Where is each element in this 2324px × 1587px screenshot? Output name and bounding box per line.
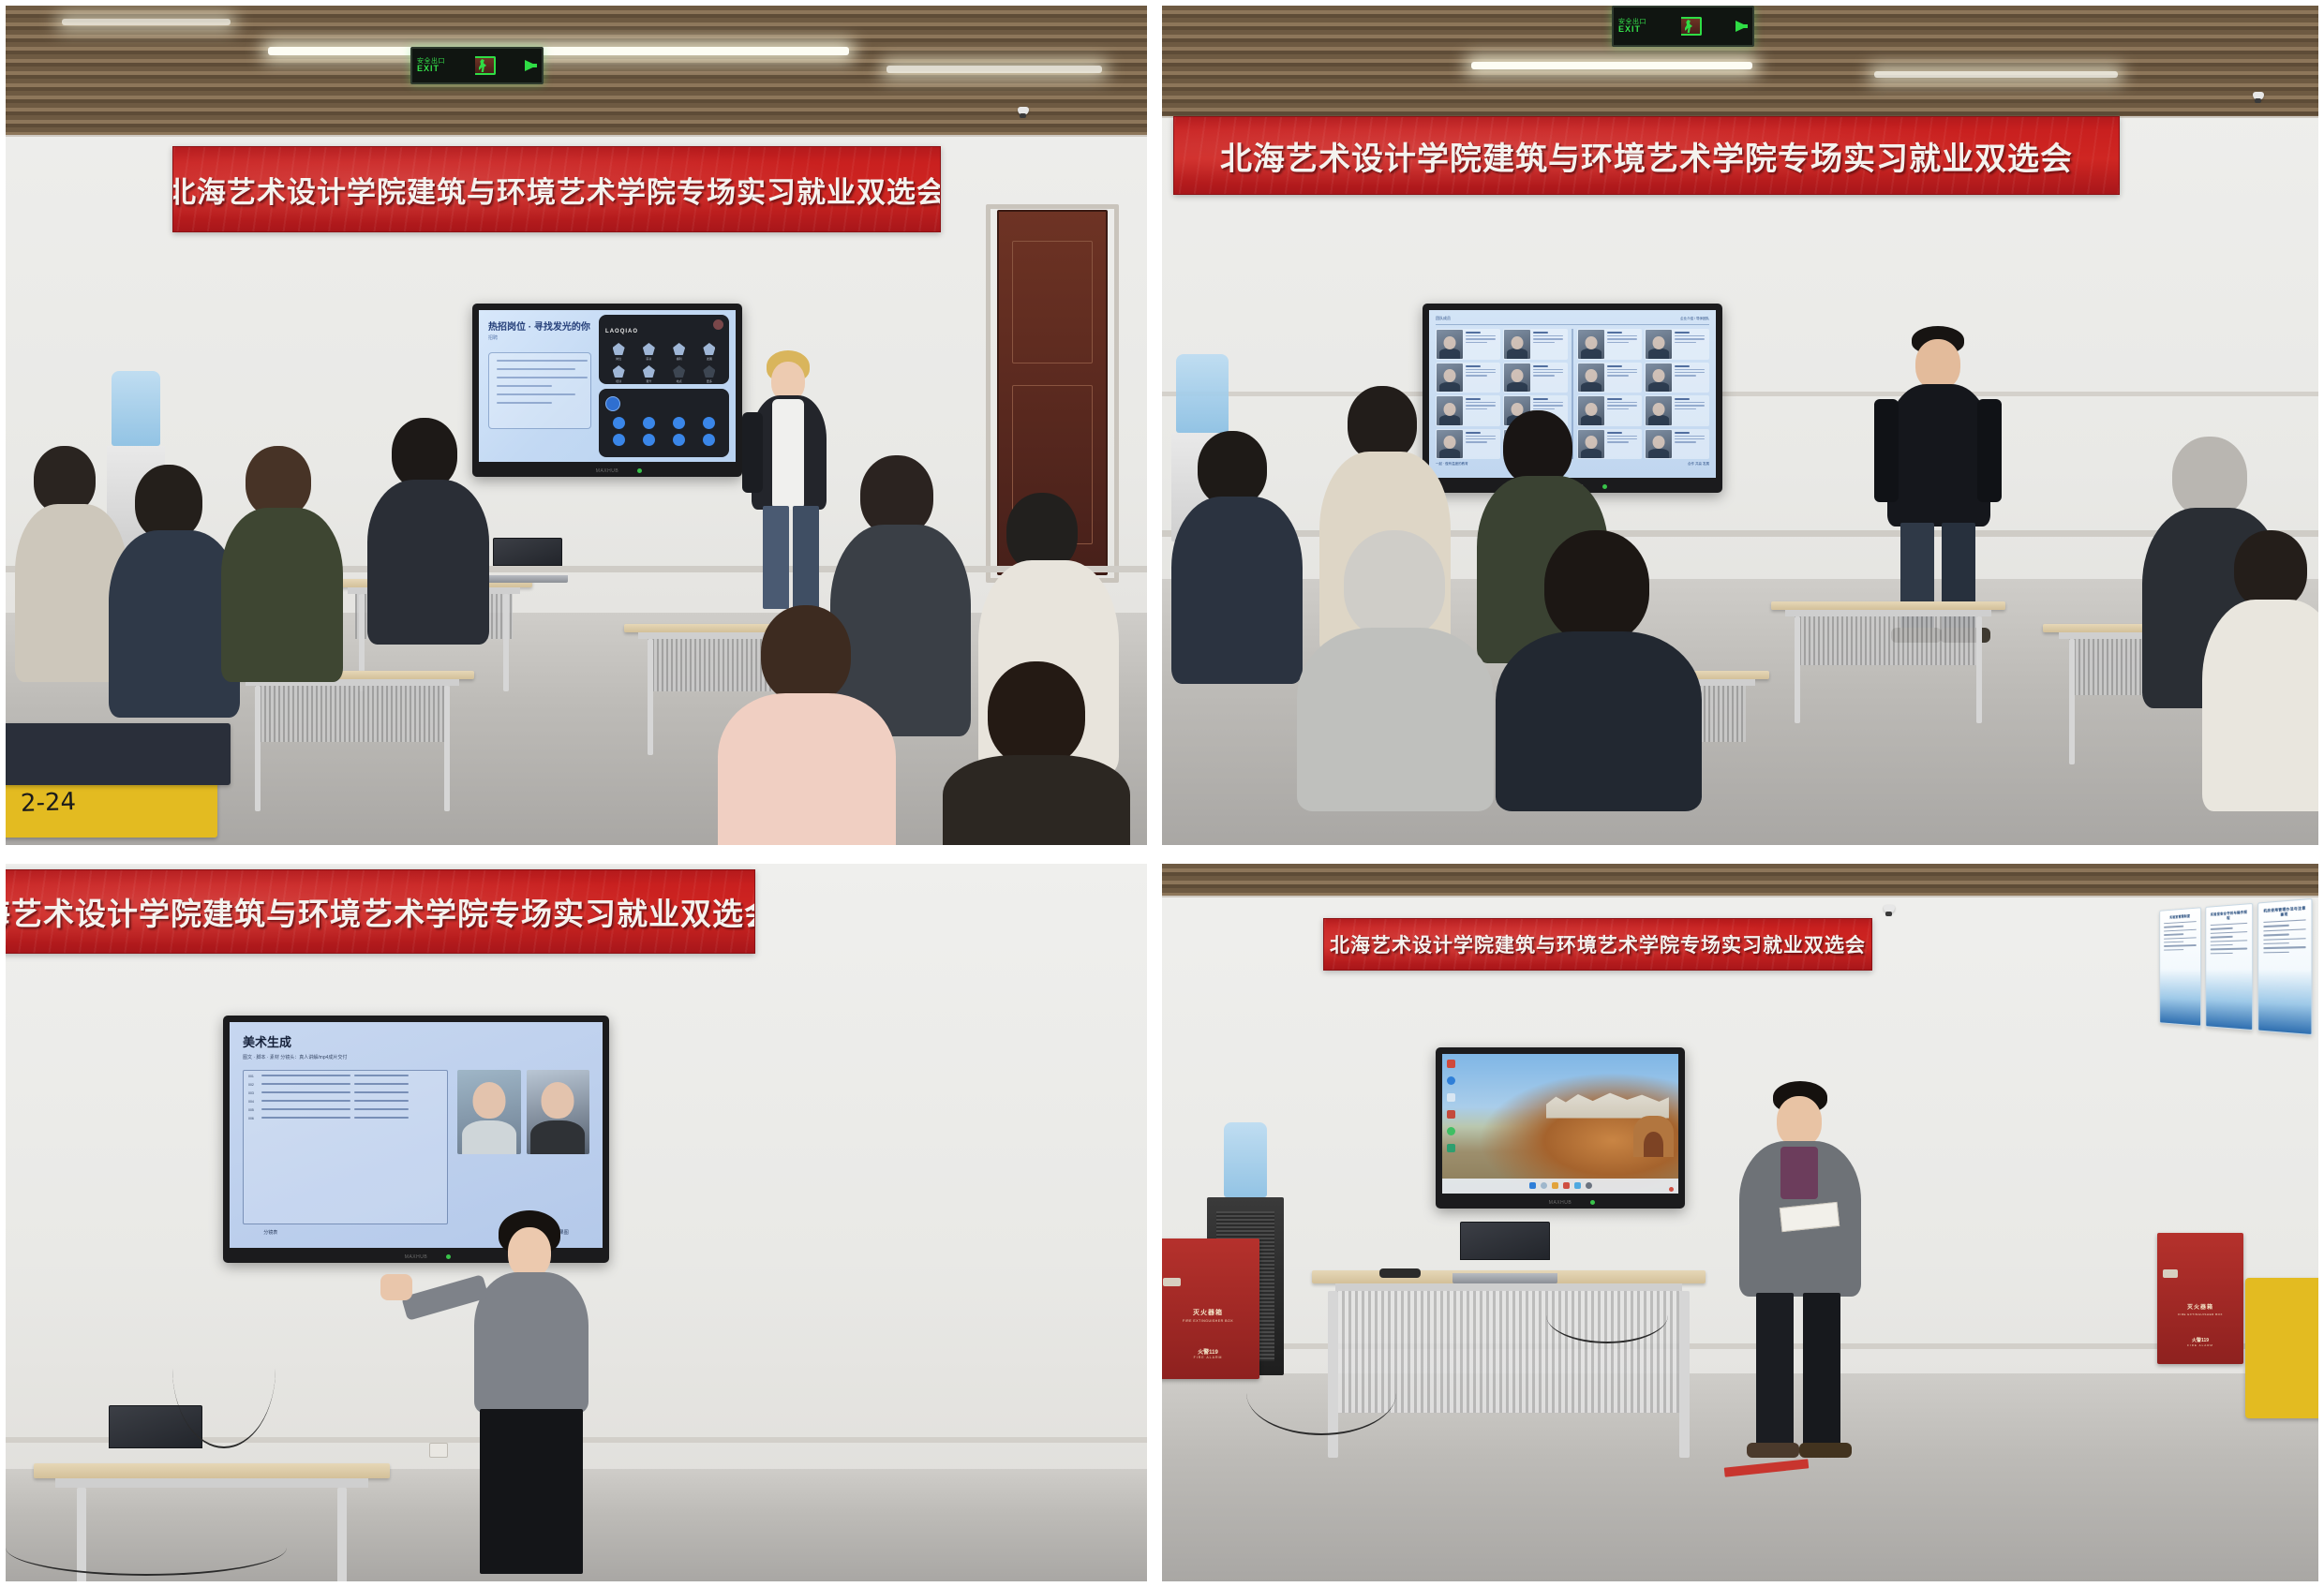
- fire-alarm-number: 火警119: [2157, 1337, 2243, 1343]
- portrait-card: [1436, 329, 1500, 360]
- photo-bottom-right: 北海艺术设计学院建筑与环境艺术学院专场实习就业双选会 实验室管理制度 实验室安全…: [1162, 864, 2318, 1581]
- slide-content: 热招岗位 · 寻找发光的你 招聘 LAOQIAO: [479, 310, 736, 462]
- app-icon: [703, 417, 715, 429]
- photo-collage: 安全出口 EXIT 北海艺术设计学院建筑与环境艺术学院专场实习就业双选会: [0, 0, 2324, 1587]
- portrait-card: [1577, 329, 1642, 360]
- panel-brand: LAOQIAO: [605, 329, 638, 334]
- icon-label: 更多: [707, 379, 712, 383]
- table-caption: 分镜表: [263, 1229, 277, 1236]
- app-icon: [643, 417, 655, 429]
- welfare-icon: [673, 343, 685, 355]
- portrait-card: [1577, 363, 1642, 393]
- classroom-chair[interactable]: 2-24: [6, 779, 217, 838]
- icon-label: 培训: [616, 379, 621, 383]
- job-icon: [613, 343, 625, 355]
- display-screen: MAXHUB: [1436, 1047, 1685, 1209]
- fire-box-subtitle: FIRE EXTINGUISHER BOX: [2157, 1313, 2243, 1316]
- audience-member: [943, 661, 1130, 845]
- fire-alarm-label: FIRE ALARM: [1162, 1356, 1259, 1359]
- leg: [1803, 1293, 1840, 1450]
- system-tray[interactable]: [1669, 1187, 1674, 1192]
- fire-alarm-label: FIRE ALARM: [2157, 1343, 2243, 1347]
- audience-member: [221, 446, 343, 680]
- explorer-icon[interactable]: [1552, 1182, 1558, 1189]
- wallpaper-bridge: [1633, 1116, 1674, 1158]
- hdmi-cable: [172, 1289, 276, 1448]
- arm: [1977, 399, 2002, 502]
- plaque-title: 实验室安全守则与操作规程: [2211, 911, 2247, 923]
- plaque-title: 机房使用管理办法与注意事项: [2263, 906, 2305, 919]
- settings-icon[interactable]: [1586, 1182, 1592, 1189]
- row-id: 005: [248, 1108, 258, 1112]
- icon-label: 福利: [677, 357, 682, 361]
- wall-outlet[interactable]: [429, 1443, 448, 1458]
- box-handle: [1163, 1278, 1182, 1286]
- event-banner-text: 北海艺术设计学院建筑与环境艺术学院专场实习就业双选会: [172, 169, 941, 211]
- fire-equipment-box: 灭火器箱 FIRE EXTINGUISHER BOX 火警119 FIRE AL…: [1162, 1238, 1259, 1379]
- storyboard-table: 001 002 003 004 005 006: [243, 1070, 448, 1224]
- skirt: [480, 1409, 583, 1574]
- event-banner-text: 北海艺术设计学院建筑与环境艺术学院专场实习就业双选会: [1330, 930, 1866, 958]
- portrait-card: [1645, 363, 1709, 393]
- event-banner-text: 北海艺术设计学院建筑与环境艺术学院专场实习就业双选会: [1220, 133, 2073, 179]
- leg: [1756, 1293, 1794, 1450]
- hand: [380, 1274, 412, 1300]
- event-banner: 北海艺术设计学院建筑与环境艺术学院专场实习就业双选会: [1173, 116, 2120, 195]
- slide-subtitle: 招聘: [488, 334, 591, 341]
- plaque-title: 实验室管理制度: [2164, 913, 2197, 920]
- arrow-right-icon: [1736, 21, 1748, 32]
- app-icon: [703, 434, 715, 446]
- growth-icon: [703, 343, 715, 355]
- ceiling-light: [62, 19, 231, 25]
- slide-panel-icons: LAOQIAO 岗位 薪资 福利 发展 培训 晋升 地点: [599, 315, 729, 384]
- photo-top-right: 安全出口 EXIT 北海艺术设计学院建筑与环境艺术学院专场实习就业双选会 团队成…: [1162, 6, 2318, 845]
- head: [508, 1227, 551, 1278]
- folder-icon[interactable]: [1447, 1093, 1455, 1102]
- fire-equipment-box: 灭火器箱 FIRE EXTINGUISHER BOX 火警119 FIRE AL…: [2157, 1233, 2243, 1364]
- audience-member: [109, 465, 240, 718]
- head: [1777, 1096, 1822, 1147]
- tv-brand-label: MAXHUB: [405, 1254, 427, 1260]
- taskbar[interactable]: [1442, 1179, 1678, 1194]
- presenter: [461, 1210, 602, 1576]
- power-cable: [1546, 1287, 1668, 1343]
- fire-box-title: 灭火器箱: [2157, 1302, 2243, 1311]
- exit-sign-label-en: EXIT: [417, 65, 445, 73]
- running-man-icon: [1681, 17, 1702, 36]
- running-man-icon: [475, 56, 496, 75]
- portrait-card: [1503, 329, 1568, 360]
- portrait-card: [1645, 429, 1709, 460]
- event-banner: 北海艺术设计学院建筑与环境艺术学院专场实习就业双选会: [6, 869, 755, 954]
- microphone[interactable]: [1379, 1268, 1421, 1278]
- browser-icon[interactable]: [1447, 1076, 1455, 1085]
- arrow-right-icon: [525, 60, 537, 71]
- app-icon: [613, 434, 625, 446]
- inner-shirt: [1780, 1147, 1818, 1199]
- avatar: [605, 396, 620, 411]
- location-icon: [673, 365, 685, 378]
- head: [1915, 339, 1960, 390]
- student-desk: [231, 671, 474, 811]
- power-cable: [6, 1520, 287, 1576]
- portrait-card: [1645, 329, 1709, 360]
- start-icon[interactable]: [1529, 1182, 1536, 1189]
- slide-title: 美术生成: [243, 1032, 589, 1050]
- app-icon: [643, 434, 655, 446]
- app-icon: [673, 434, 685, 446]
- ceiling-light: [1874, 71, 2118, 78]
- media-icon[interactable]: [1447, 1110, 1455, 1119]
- desktop-icons[interactable]: [1447, 1060, 1455, 1152]
- slide-header-left: 团队成员: [1436, 316, 1451, 321]
- fire-box-subtitle: FIRE EXTINGUISHER BOX: [1162, 1319, 1259, 1323]
- generated-portrait: [457, 1070, 520, 1154]
- event-banner-text: 北海艺术设计学院建筑与环境艺术学院专场实习就业双选会: [6, 889, 755, 934]
- desktop-content: [1442, 1054, 1678, 1194]
- shoe: [1747, 1443, 1799, 1458]
- portrait-card: [1645, 395, 1709, 426]
- presenter: [1730, 1081, 1870, 1456]
- fire-alarm-number: 火警119: [1162, 1347, 1259, 1356]
- shoe: [1799, 1443, 1852, 1458]
- slide-title: 热招岗位 · 寻找发光的你: [488, 319, 591, 333]
- document-icon[interactable]: [1447, 1144, 1455, 1152]
- ceiling: [1162, 864, 2318, 897]
- app-icon: [613, 417, 625, 429]
- classroom-chair[interactable]: [2245, 1278, 2318, 1418]
- regulation-plaque: 实验室安全守则与操作规程: [2205, 903, 2253, 1031]
- jacket-stripe: [772, 399, 804, 510]
- app-icon[interactable]: [1563, 1182, 1570, 1189]
- event-banner: 北海艺术设计学院建筑与环境艺术学院专场实习就业双选会: [1323, 918, 1872, 971]
- power-indicator-icon: [637, 468, 642, 473]
- slide-subtitle: 图文 · 脚本 · 素材 分镜头：真人讲解/mp4成片交付: [243, 1054, 589, 1060]
- audience-member: [367, 418, 489, 643]
- portrait-card: [1503, 363, 1568, 393]
- display-screen: 热招岗位 · 寻找发光的你 招聘 LAOQIAO: [472, 304, 742, 477]
- tv-brand-label: MAXHUB: [596, 468, 618, 474]
- ceiling-light: [886, 66, 1102, 73]
- classroom-chair[interactable]: [6, 723, 231, 785]
- recycle-bin-icon[interactable]: [1447, 1060, 1455, 1068]
- laptop[interactable]: [1460, 1222, 1550, 1283]
- slide-header-right: 企业介绍 / 导师团队: [1680, 317, 1709, 321]
- salary-icon: [643, 343, 655, 355]
- exit-sign: 安全出口 EXIT: [1612, 6, 1754, 47]
- student-desk: [1771, 601, 2005, 723]
- icon-label: 岗位: [616, 357, 621, 361]
- icon-label: 发展: [707, 357, 712, 361]
- training-icon: [613, 365, 625, 378]
- arm: [742, 412, 763, 493]
- laptop[interactable]: [493, 538, 562, 583]
- chair-label: 2-24: [20, 788, 76, 818]
- notification-icon[interactable]: [1669, 1187, 1674, 1192]
- app-icon: [673, 417, 685, 429]
- row-id: 004: [248, 1100, 258, 1104]
- ceiling-light: [268, 47, 849, 55]
- row-id: 002: [248, 1083, 258, 1087]
- search-icon[interactable]: [1541, 1182, 1547, 1189]
- leg: [793, 506, 819, 609]
- presenter: [1872, 326, 2004, 635]
- regulation-plaque: 机房使用管理办法与注意事项: [2257, 898, 2312, 1035]
- torso: [474, 1272, 588, 1413]
- audience-member: [1297, 530, 1494, 811]
- highlight-dot-icon: [713, 319, 723, 330]
- audience-member: [718, 605, 896, 845]
- power-cable: [1246, 1351, 1396, 1435]
- app-icon[interactable]: [1574, 1182, 1581, 1189]
- icon-label: 晋升: [646, 379, 651, 383]
- box-handle: [2163, 1269, 2179, 1277]
- audience-member: [1496, 530, 1702, 811]
- promotion-icon: [643, 365, 655, 378]
- chat-icon[interactable]: [1447, 1127, 1455, 1135]
- icon-label: 薪资: [646, 357, 651, 361]
- power-indicator-icon: [446, 1254, 451, 1259]
- slide-footer-right: 合作 共赢 发展: [1688, 462, 1709, 467]
- photo-bottom-left: 北海艺术设计学院建筑与环境艺术学院专场实习就业双选会 美术生成 图文 · 脚本 …: [6, 864, 1147, 1581]
- audience-member: [1171, 431, 1303, 684]
- row-id: 001: [248, 1075, 258, 1078]
- slide-text-card: [488, 352, 591, 429]
- generated-portrait: [527, 1070, 589, 1154]
- fire-box-title: 灭火器箱: [1162, 1308, 1259, 1317]
- row-id: 003: [248, 1091, 258, 1095]
- exit-sign-label-en: EXIT: [1618, 25, 1646, 34]
- more-icon: [703, 365, 715, 378]
- photo-top-left: 安全出口 EXIT 北海艺术设计学院建筑与环境艺术学院专场实习就业双选会: [6, 6, 1147, 845]
- ceiling-light: [1471, 62, 1752, 69]
- regulation-plaque: 实验室管理制度: [2159, 907, 2201, 1026]
- leg: [763, 506, 789, 609]
- slide-panel-avatars: [599, 389, 729, 458]
- audience-member: [2202, 530, 2318, 811]
- tv-brand-label: MAXHUB: [1549, 1200, 1572, 1206]
- event-banner: 北海艺术设计学院建筑与环境艺术学院专场实习就业双选会: [172, 146, 941, 232]
- icon-label: 地点: [677, 379, 682, 383]
- torso: [1887, 384, 1990, 527]
- exit-sign: 安全出口 EXIT: [410, 47, 544, 84]
- arm: [1874, 399, 1899, 502]
- power-indicator-icon: [1590, 1200, 1595, 1205]
- presenter: [738, 350, 842, 613]
- wall-regulation-plaques: 实验室管理制度 实验室安全守则与操作规程 机房使用管理办法与注意事项: [2159, 898, 2312, 1035]
- exit-sign-text: 安全出口 EXIT: [417, 58, 445, 73]
- row-id: 006: [248, 1117, 258, 1120]
